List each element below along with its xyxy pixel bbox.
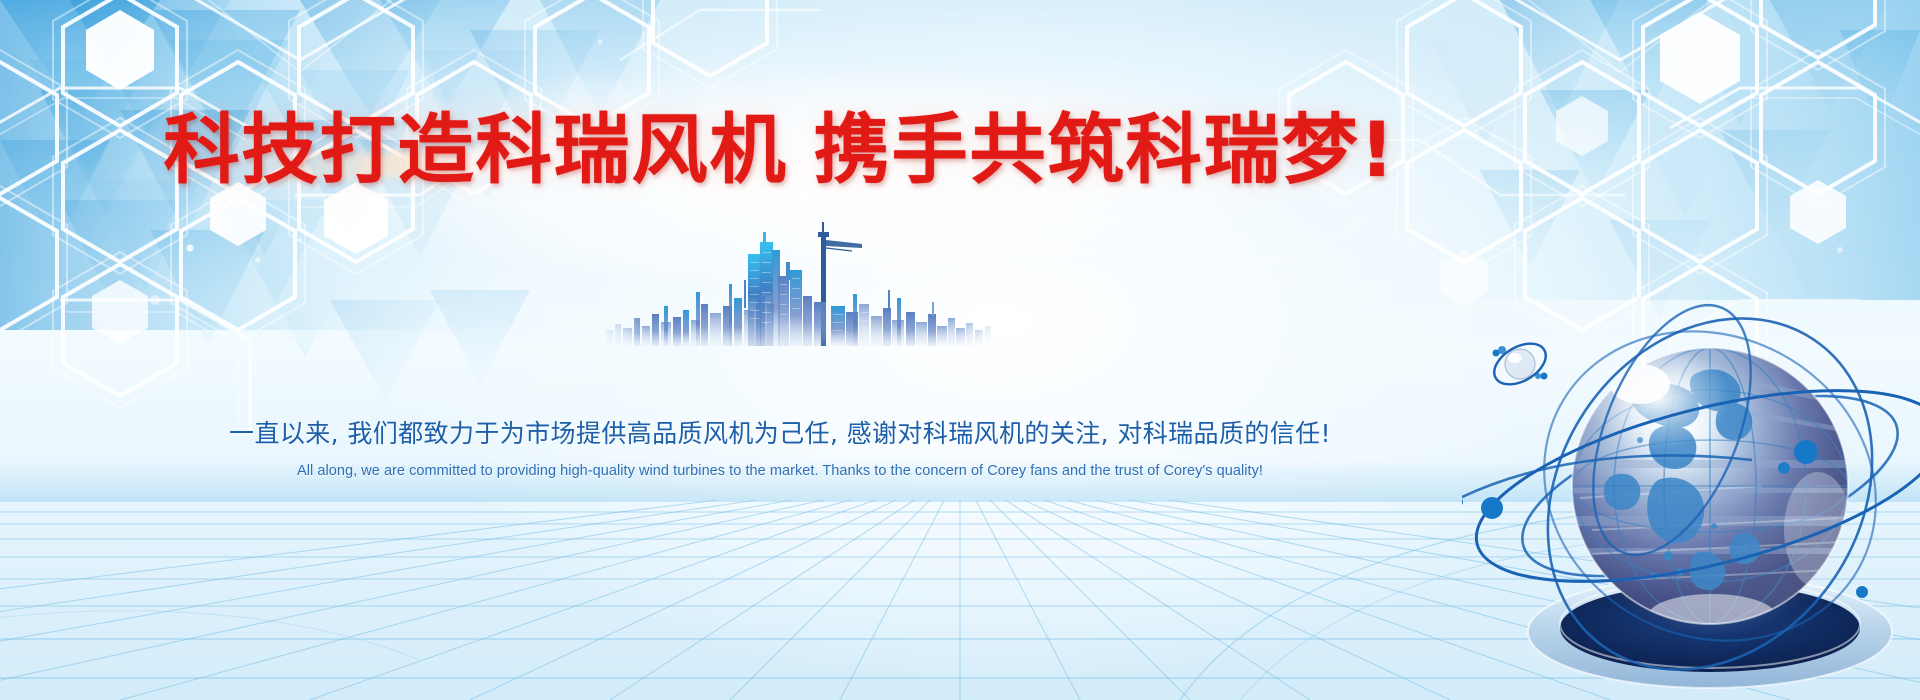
- headline-segment-1: 科技打造科瑞风机: [164, 112, 788, 188]
- continent-shapes: [1604, 369, 1761, 590]
- globe-sphere: [1560, 336, 1862, 638]
- graticule: [1572, 348, 1848, 624]
- subtitle-english: All along, we are committed to providing…: [0, 462, 1560, 481]
- subtitle-chinese: 一直以来, 我们都致力于为市场提供高品质风机为己任, 感谢对科瑞风机的关注, 对…: [0, 418, 1560, 449]
- headline-segment-2: 携手共筑科瑞梦!: [814, 112, 1397, 188]
- page-title: 科技打造科瑞风机携手共筑科瑞梦!: [164, 112, 1397, 188]
- banner-content: 科技打造科瑞风机携手共筑科瑞梦! 一直以来, 我们都致力于为市场提供高品质风机为…: [0, 0, 1560, 700]
- promo-banner: 科技打造科瑞风机携手共筑科瑞梦! 一直以来, 我们都致力于为市场提供高品质风机为…: [0, 0, 1920, 700]
- globe-base-disc: [1528, 576, 1892, 688]
